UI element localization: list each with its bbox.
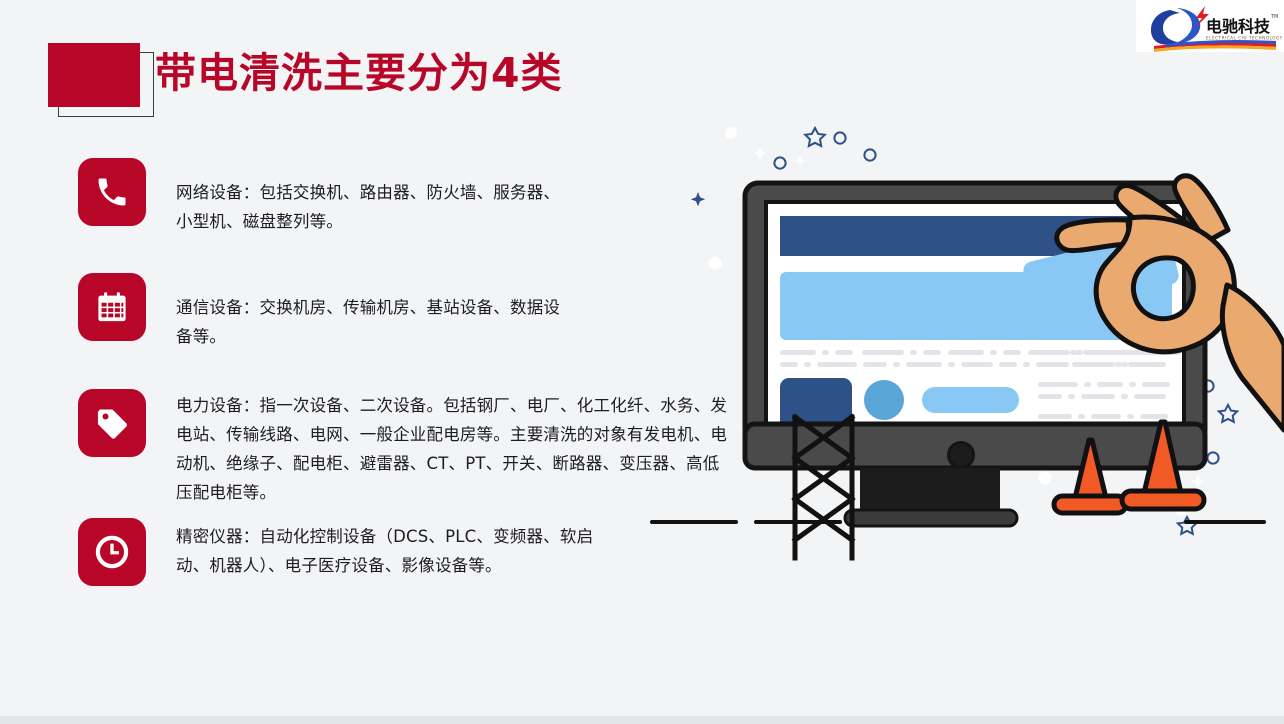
- logo-trademark: TM: [1270, 14, 1278, 20]
- list-item[interactable]: 通信设备：交换机房、传输机房、基站设备、数据设备等。: [78, 273, 576, 351]
- slide-root: 带电清洗主要分为4类 电驰科技 ELECTRICAL CHI TECHNOLOG…: [0, 0, 1284, 724]
- clock-icon: [78, 518, 146, 586]
- monitor-stand: [845, 468, 1017, 526]
- list-item[interactable]: 精密仪器：自动化控制设备（DCS、PLC、变频器、软启动、机器人）、电子医疗设备…: [78, 518, 596, 586]
- calendar-icon: [78, 273, 146, 341]
- page-title: 带电清洗主要分为4类: [155, 40, 563, 106]
- bottom-strip: [0, 716, 1284, 724]
- list-item-label: 通信设备：交换机房、传输机房、基站设备、数据设备等。: [176, 273, 576, 351]
- list-item[interactable]: 网络设备：包括交换机、路由器、防火墙、服务器、小型机、磁盘整列等。: [78, 158, 576, 236]
- screen-list-pill: [922, 387, 1019, 413]
- screen-list-avatar: [864, 380, 904, 420]
- brand-logo: 电驰科技 ELECTRICAL CHI TECHNOLOGY TM: [1136, 0, 1284, 52]
- title-accent-square: [48, 43, 140, 107]
- list-item-label: 网络设备：包括交换机、路由器、防火墙、服务器、小型机、磁盘整列等。: [176, 158, 576, 236]
- tag-icon: [78, 389, 146, 457]
- phone-icon: [78, 158, 146, 226]
- monitor-hand-tower-cones-illustration: [630, 110, 1284, 590]
- logo-brand-en: ELECTRICAL CHI TECHNOLOGY: [1206, 36, 1283, 41]
- logo-brand-cn: 电驰科技: [1206, 17, 1271, 36]
- list-item-label: 精密仪器：自动化控制设备（DCS、PLC、变频器、软启动、机器人）、电子医疗设备…: [176, 518, 596, 580]
